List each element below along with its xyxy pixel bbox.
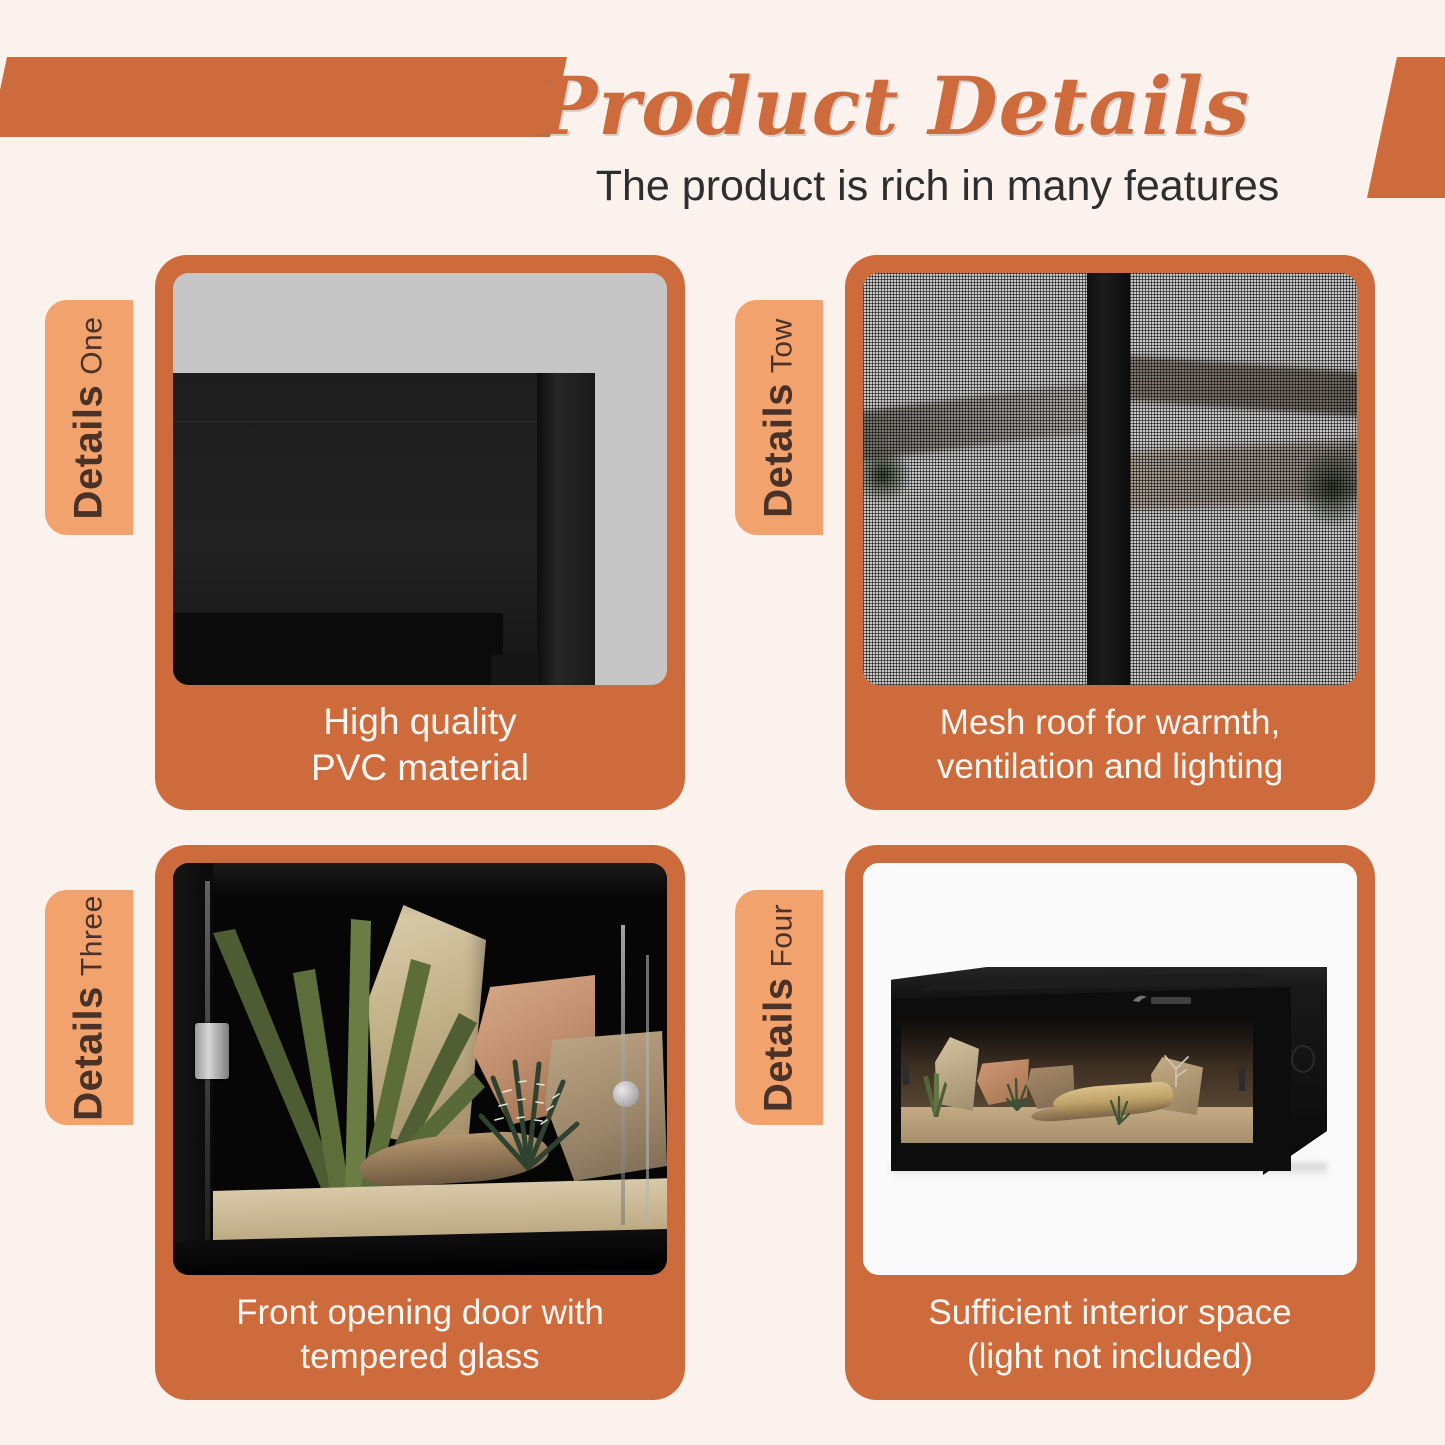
page-title: Product Details [537, 58, 1367, 154]
side-tab-four: Details Four [735, 890, 823, 1125]
grass-tuft-graphic [1107, 1095, 1131, 1125]
card-caption-four: Sufficient interior space (light not inc… [863, 1275, 1357, 1400]
brand-logo-icon [1129, 991, 1195, 1009]
side-tab-word: Details [67, 384, 112, 519]
aloe-plant-small-graphic [921, 1071, 947, 1117]
front-glass-door-photo [173, 863, 667, 1275]
side-tab-index: Tow [766, 318, 800, 373]
card-body-three: Front opening door with tempered glass [155, 845, 685, 1400]
side-tab-one: Details One [45, 300, 133, 535]
succulent-small-graphic [1005, 1077, 1029, 1111]
door-handle-graphic [195, 1023, 229, 1079]
page-subtitle: The product is rich in many features [520, 160, 1355, 212]
side-tab-index: Three [76, 895, 110, 976]
side-tab-index: One [76, 316, 110, 374]
side-tab-index: Four [766, 903, 800, 967]
detail-card-one: Details One High quality PVC material [45, 255, 735, 810]
pvc-panel-closeup-photo [173, 273, 667, 685]
side-vent-icon [1291, 1045, 1315, 1073]
header-accent-bar-left [0, 57, 567, 137]
side-tab-two: Details Tow [735, 300, 823, 535]
detail-card-three: Details Three [45, 845, 735, 1400]
card-caption-three: Front opening door with tempered glass [173, 1275, 667, 1400]
details-card-grid: Details One High quality PVC material De… [0, 255, 1445, 1445]
side-tab-word: Details [757, 383, 802, 518]
side-tab-word: Details [67, 986, 112, 1121]
full-enclosure-photo [863, 863, 1357, 1275]
page-header: Product Details The product is rich in m… [0, 0, 1445, 232]
card-body-two: Mesh roof for warmth, ventilation and li… [845, 255, 1375, 810]
card-body-one: High quality PVC material [155, 255, 685, 810]
header-accent-bar-right [1367, 57, 1445, 198]
succulent-plant-graphic [473, 1048, 583, 1173]
twig-decor-graphic [1159, 1053, 1193, 1087]
side-tab-three: Details Three [45, 890, 133, 1125]
detail-card-two: Details Tow Mesh roof for warmth, ventil… [735, 255, 1425, 810]
card-caption-two: Mesh roof for warmth, ventilation and li… [863, 685, 1357, 810]
card-body-four: Sufficient interior space (light not inc… [845, 845, 1375, 1400]
side-tab-word: Details [757, 977, 802, 1112]
detail-card-four: Details Four [735, 845, 1425, 1400]
card-caption-one: High quality PVC material [173, 685, 667, 810]
mesh-roof-photo [863, 273, 1357, 685]
